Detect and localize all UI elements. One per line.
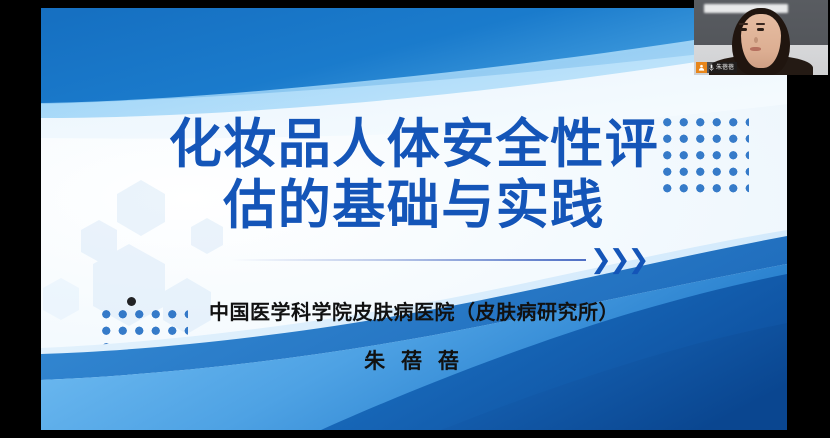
- video-eyebrow-right: [756, 23, 765, 25]
- video-mouth: [750, 47, 761, 51]
- title-line-2: 估的基础与实践: [41, 175, 787, 236]
- divider-line: [231, 259, 586, 261]
- participant-name-label: 朱蓓蓓: [716, 62, 734, 73]
- microphone-icon: [709, 59, 714, 76]
- host-badge-icon: [696, 62, 707, 73]
- participant-name-badge: 朱蓓蓓: [696, 62, 737, 73]
- participant-video-tile[interactable]: 朱蓓蓓: [694, 0, 828, 75]
- presentation-slide: 化妆品人体安全性评 估的基础与实践 ❯❯❯ 中国医学科学院皮肤病医院（皮肤病研究…: [41, 8, 787, 430]
- chevron-right-icon: ❯❯❯: [590, 247, 646, 273]
- title-divider: ❯❯❯: [41, 250, 787, 272]
- title-line-1: 化妆品人体安全性评: [41, 114, 787, 175]
- slide-title: 化妆品人体安全性评 估的基础与实践: [41, 114, 787, 236]
- video-eyebrow-left: [739, 23, 748, 25]
- video-nose: [754, 37, 758, 43]
- affiliation-text: 中国医学科学院皮肤病医院（皮肤病研究所）: [41, 296, 787, 325]
- video-eye-right: [757, 28, 764, 31]
- name-badge-body: 朱蓓蓓: [707, 62, 737, 73]
- presenter-name: 朱 蓓 蓓: [41, 345, 787, 375]
- screen-capture: 化妆品人体安全性评 估的基础与实践 ❯❯❯ 中国医学科学院皮肤病医院（皮肤病研究…: [0, 0, 830, 438]
- video-eye-left: [740, 28, 747, 31]
